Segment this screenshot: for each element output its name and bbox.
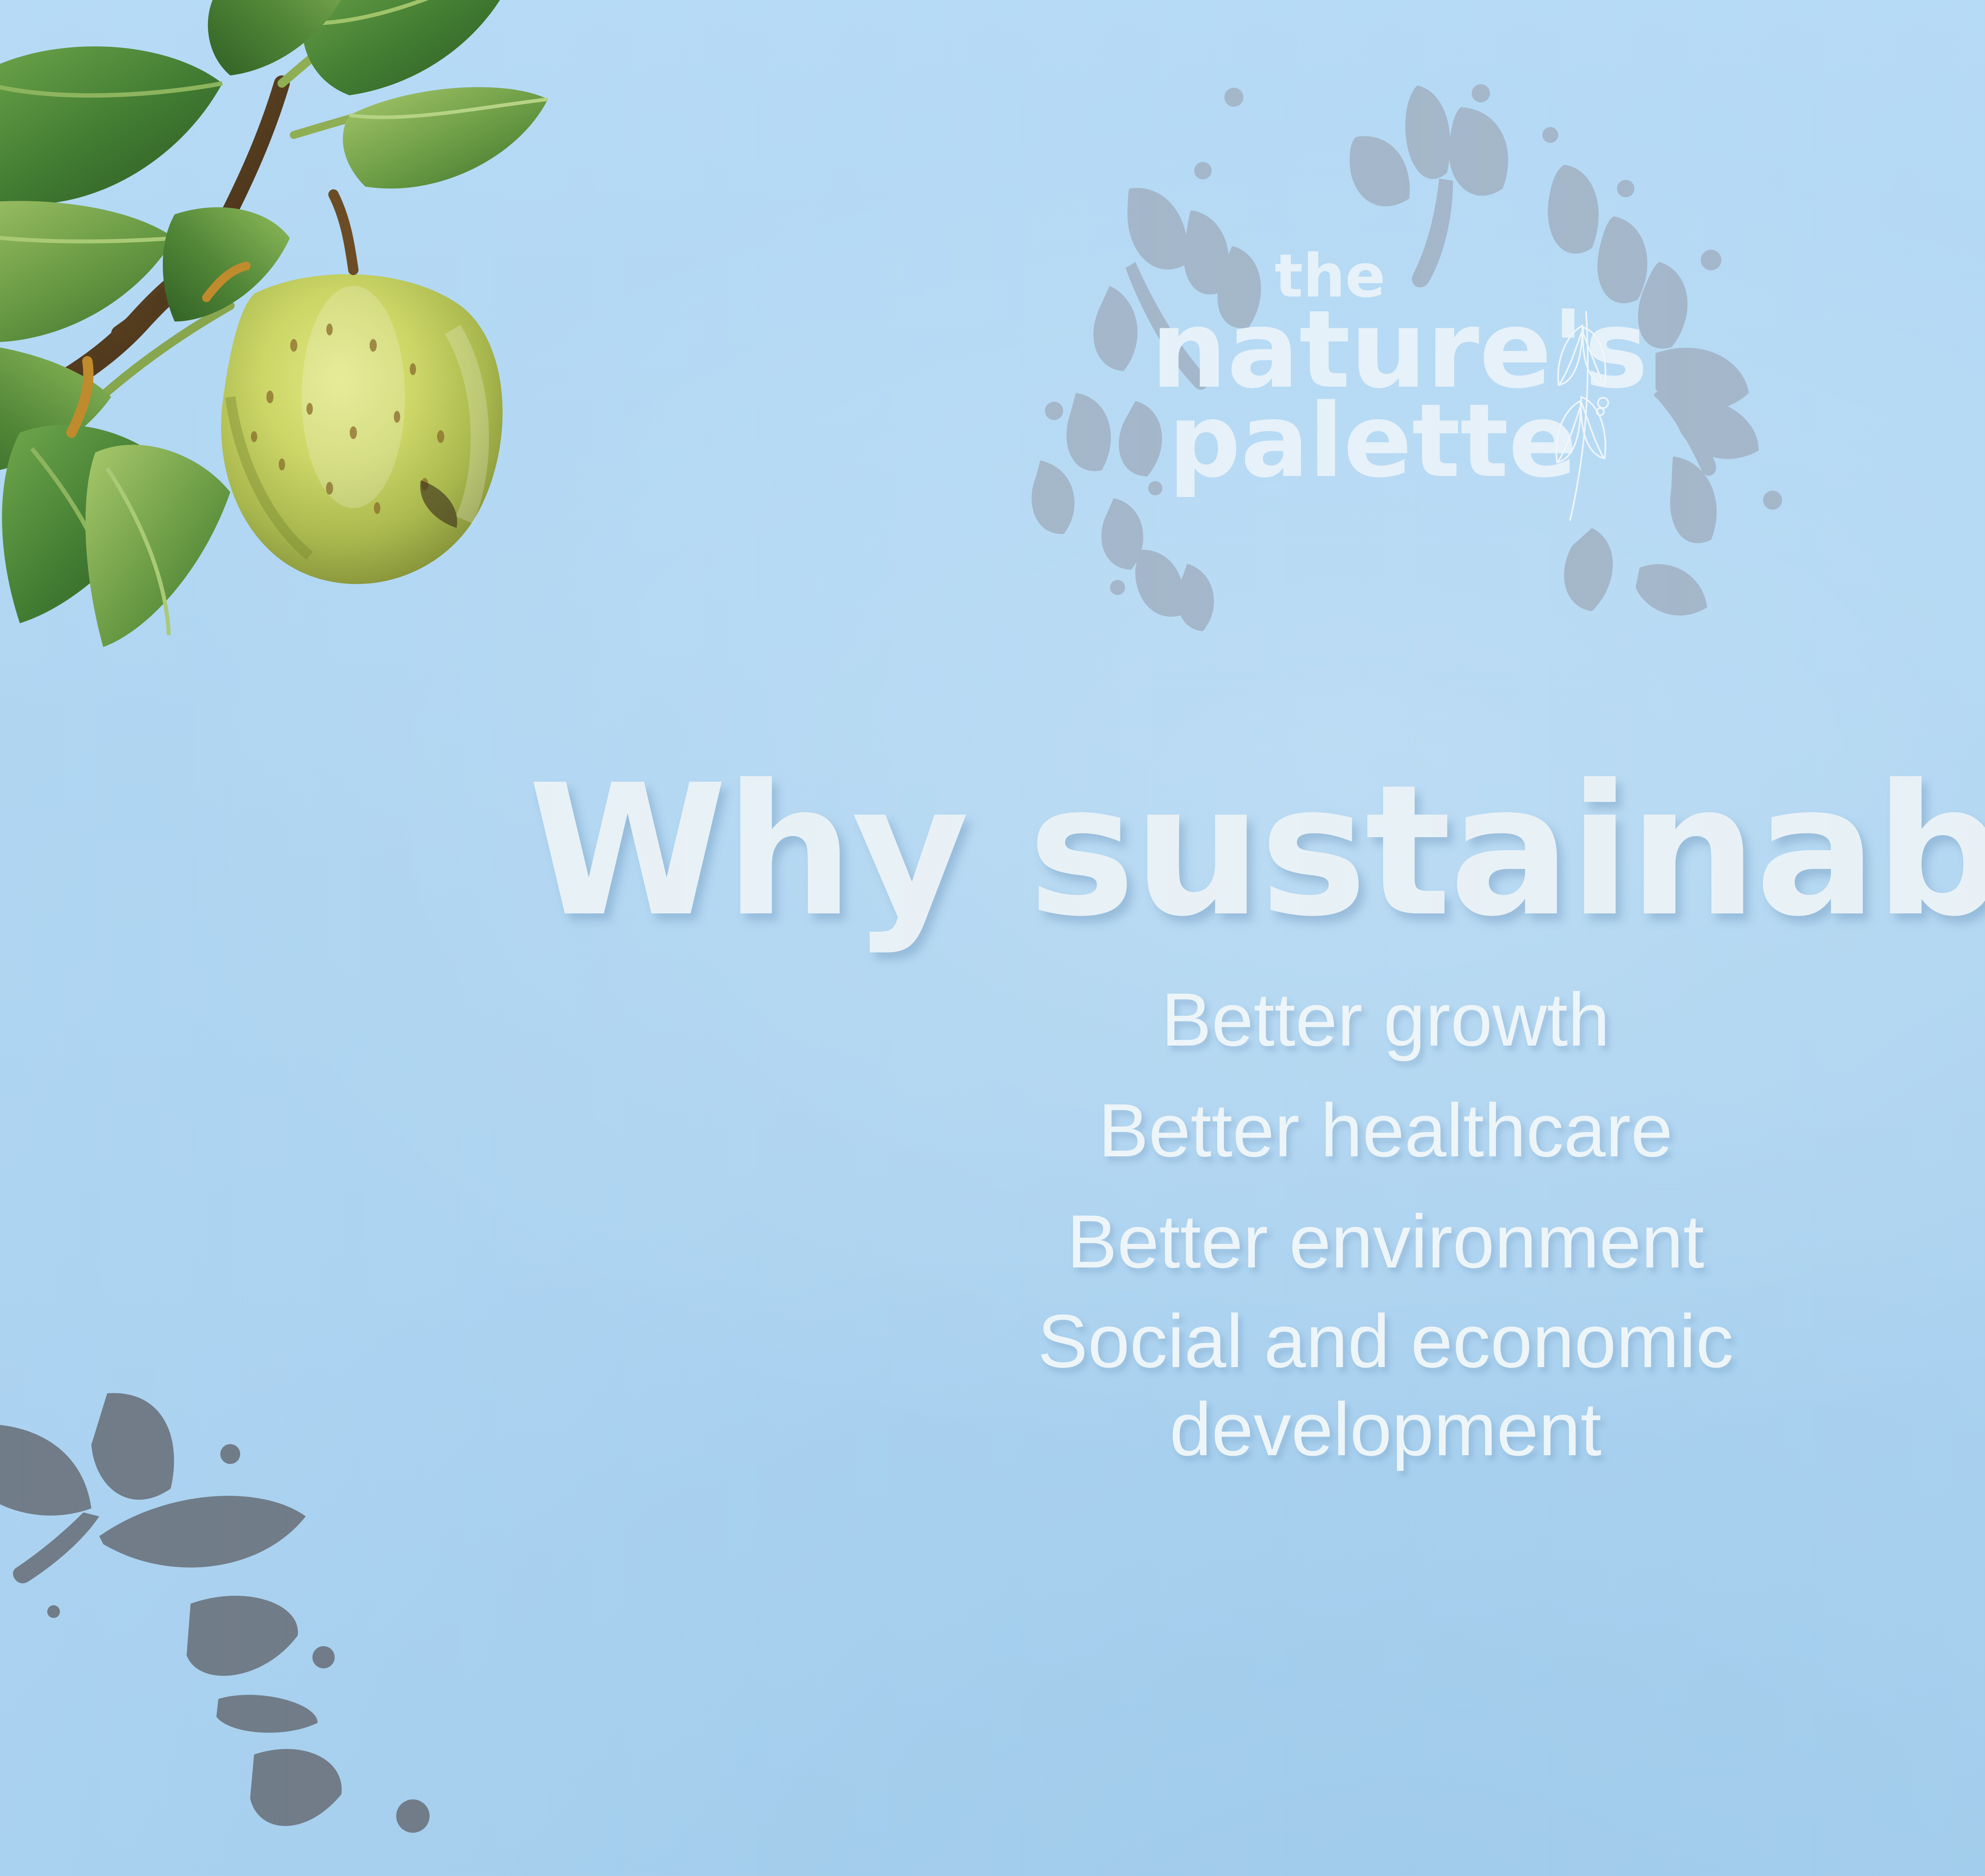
decorative-leaf-motif	[0, 1358, 484, 1876]
list-item: development	[730, 1385, 1985, 1473]
botanical-apple-illustration	[0, 0, 548, 675]
logo-sprig-icon	[1505, 304, 1636, 526]
logo-line-palette: palette	[931, 397, 1814, 486]
brand-logo: the nature's palette	[1016, 79, 1814, 568]
benefits-list: Better growth Better healthcare Better e…	[730, 965, 1985, 1473]
list-item: Social and economic	[730, 1297, 1985, 1385]
page-title: Why sustainable?	[0, 746, 1985, 956]
list-item: Better environment	[730, 1186, 1985, 1297]
presentation-slide: the nature's palette Why sustainable? B	[0, 0, 1985, 1876]
logo-wordmark: the nature's palette	[1016, 250, 1814, 486]
list-item: Better healthcare	[730, 1075, 1985, 1186]
list-item: Better growth	[730, 965, 1985, 1075]
